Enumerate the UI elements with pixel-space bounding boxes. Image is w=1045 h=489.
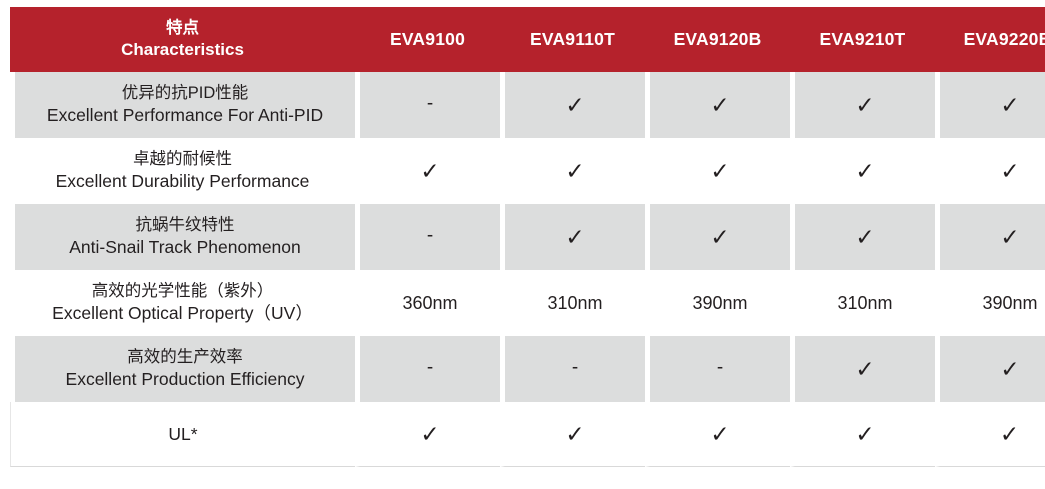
row-label-zh: 抗蜗牛纹特性 [18,215,352,236]
value-text: 310nm [547,293,602,313]
cell-eva9100: ✓ [355,402,500,467]
cell-eva9100: 360nm [355,270,500,336]
cell-eva9110t: ✓ [500,138,645,204]
cell-eva9210t: 310nm [790,270,935,336]
row-label-en: Anti-Snail Track Phenomenon [18,236,352,259]
dash-icon: - [572,358,578,377]
row-label: 高效的光学性能（紫外） Excellent Optical Property（U… [10,270,355,336]
check-icon: ✓ [565,424,584,447]
table-row: 抗蜗牛纹特性 Anti-Snail Track Phenomenon - ✓ ✓… [10,204,1045,270]
check-icon: ✓ [565,161,584,184]
table-row: 高效的生产效率 Excellent Production Efficiency … [10,336,1045,402]
cell-eva9220b: ✓ [935,138,1045,204]
value-text: 360nm [402,293,457,313]
check-icon: ✓ [565,227,584,250]
cell-eva9120b: ✓ [645,72,790,138]
row-label-en: UL* [14,423,352,446]
cell-eva9120b: ✓ [645,138,790,204]
header-model-eva9210t: EVA9210T [790,7,935,72]
row-label-zh: 高效的光学性能（紫外） [13,281,352,302]
check-icon: ✓ [1000,424,1019,447]
row-label-zh: 优异的抗PID性能 [18,83,352,104]
check-icon: ✓ [710,424,729,447]
row-label: 高效的生产效率 Excellent Production Efficiency [10,336,355,402]
row-label: 卓越的耐候性 Excellent Durability Performance [10,138,355,204]
table-row: 卓越的耐候性 Excellent Durability Performance … [10,138,1045,204]
dash-icon: - [717,358,723,377]
header-characteristics-en: Characteristics [14,39,351,61]
header-model-eva9120b: EVA9120B [645,7,790,72]
cell-eva9110t: ✓ [500,204,645,270]
cell-eva9100: - [355,72,500,138]
cell-eva9120b: ✓ [645,204,790,270]
cell-eva9220b: ✓ [935,72,1045,138]
product-comparison-table: 特点 Characteristics EVA9100 EVA9110T EVA9… [10,7,1033,467]
check-icon: ✓ [565,95,584,118]
check-icon: ✓ [1000,359,1019,382]
check-icon: ✓ [420,424,439,447]
row-label-zh: 卓越的耐候性 [13,149,352,170]
cell-eva9100: - [355,204,500,270]
cell-eva9110t: - [500,336,645,402]
check-icon: ✓ [855,359,874,382]
table-row: UL* ✓ ✓ ✓ ✓ ✓ [10,402,1045,467]
header-model-eva9110t: EVA9110T [500,7,645,72]
cell-eva9120b: 390nm [645,270,790,336]
cell-eva9220b: ✓ [935,402,1045,467]
row-label-en: Excellent Performance For Anti-PID [18,104,352,127]
value-text: 390nm [982,293,1037,313]
value-text: 310nm [837,293,892,313]
cell-eva9210t: ✓ [790,204,935,270]
check-icon: ✓ [855,161,874,184]
cell-eva9100: ✓ [355,138,500,204]
row-label: UL* [10,402,355,467]
cell-eva9110t: ✓ [500,72,645,138]
check-icon: ✓ [710,161,729,184]
cell-eva9220b: ✓ [935,204,1045,270]
check-icon: ✓ [710,227,729,250]
check-icon: ✓ [855,424,874,447]
check-icon: ✓ [710,95,729,118]
table-header: 特点 Characteristics EVA9100 EVA9110T EVA9… [10,7,1045,72]
check-icon: ✓ [1000,95,1019,118]
header-characteristics-zh: 特点 [14,18,351,39]
cell-eva9110t: 310nm [500,270,645,336]
cell-eva9210t: ✓ [790,336,935,402]
header-model-eva9100: EVA9100 [355,7,500,72]
row-label-en: Excellent Optical Property（UV） [13,302,352,325]
dash-icon: - [427,94,433,113]
cell-eva9110t: ✓ [500,402,645,467]
check-icon: ✓ [1000,161,1019,184]
table-header-row: 特点 Characteristics EVA9100 EVA9110T EVA9… [10,7,1045,72]
header-characteristics: 特点 Characteristics [10,7,355,72]
cell-eva9210t: ✓ [790,138,935,204]
header-model-eva9220b: EVA9220B [935,7,1045,72]
comparison-table: 特点 Characteristics EVA9100 EVA9110T EVA9… [10,7,1045,467]
cell-eva9120b: - [645,336,790,402]
dash-icon: - [427,226,433,245]
check-icon: ✓ [420,161,439,184]
cell-eva9210t: ✓ [790,72,935,138]
row-label-en: Excellent Durability Performance [13,170,352,193]
value-text: 390nm [692,293,747,313]
check-icon: ✓ [855,227,874,250]
check-icon: ✓ [855,95,874,118]
cell-eva9100: - [355,336,500,402]
cell-eva9220b: ✓ [935,336,1045,402]
dash-icon: - [427,358,433,377]
row-label: 优异的抗PID性能 Excellent Performance For Anti… [10,72,355,138]
table-body: 优异的抗PID性能 Excellent Performance For Anti… [10,72,1045,467]
cell-eva9220b: 390nm [935,270,1045,336]
table-row: 高效的光学性能（紫外） Excellent Optical Property（U… [10,270,1045,336]
cell-eva9120b: ✓ [645,402,790,467]
check-icon: ✓ [1000,227,1019,250]
row-label-zh: 高效的生产效率 [18,347,352,368]
cell-eva9210t: ✓ [790,402,935,467]
row-label-en: Excellent Production Efficiency [18,368,352,391]
table-row: 优异的抗PID性能 Excellent Performance For Anti… [10,72,1045,138]
row-label: 抗蜗牛纹特性 Anti-Snail Track Phenomenon [10,204,355,270]
